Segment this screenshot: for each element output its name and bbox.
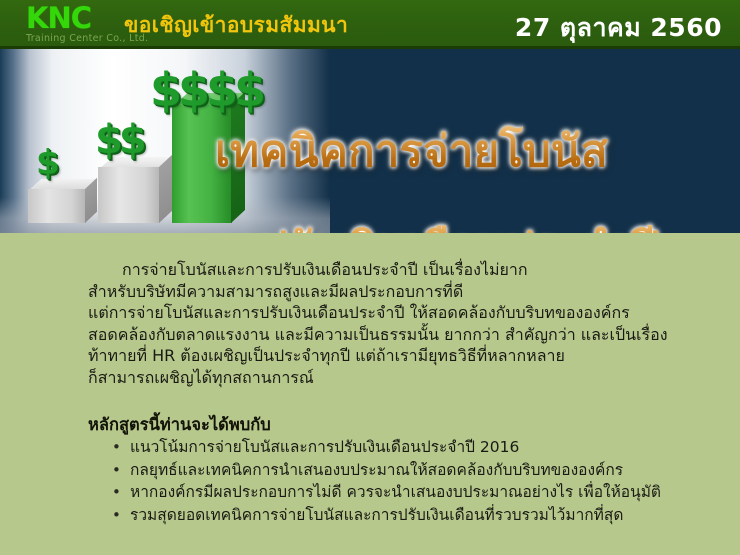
intro-paragraph-line: สอดคล้องกับตลาดแรงงาน และมีความเป็นธรรมน… xyxy=(88,324,708,346)
list-item: •รวมสุดยอดเทคนิคการจ่ายโบนัสและการปรับเง… xyxy=(108,504,738,527)
event-date: 27 ตุลาคม 2560 xyxy=(515,8,722,48)
list-item: •หากองค์กรมีผลประกอบการไม่ดี ควรจะนำเสนอ… xyxy=(108,481,738,504)
intro-paragraph-line: สำหรับบริษัทมีความสามารถสูงและมีผลประกอบ… xyxy=(88,281,708,303)
list-item-label: หากองค์กรมีผลประกอบการไม่ดี ควรจะนำเสนอง… xyxy=(130,483,661,501)
bullet-marker-icon: • xyxy=(112,481,121,504)
intro-paragraph-line: ก็สามารถเผชิญได้ทุกสถานการณ์ xyxy=(88,367,708,389)
banner: $ $$ $$$$ เทคนิคการจ่ายโบนัส และการปรับเ… xyxy=(0,49,740,233)
course-topics-heading: หลักสูตรนี้ท่านจะได้พบกับ xyxy=(88,412,271,438)
banner-title-group: เทคนิคการจ่ายโบนัส และการปรับเงินเดือนปร… xyxy=(0,49,740,233)
list-item: •แนวโน้มการจ่ายโบนัสและการปรับเงินเดือนป… xyxy=(108,436,738,459)
header-band: KNC Training Center Co., Ltd. ขอเชิญเข้า… xyxy=(0,0,740,48)
list-item-label: กลยุทธ์และเทคนิคการนำเสนองบประมาณให้สอดค… xyxy=(130,461,623,479)
intro-paragraph: การจ่ายโบนัสและการปรับเงินเดือนประจำปี เ… xyxy=(88,259,708,388)
list-item: •กลยุทธ์และเทคนิคการนำเสนองบประมาณให้สอด… xyxy=(108,459,738,482)
intro-paragraph-line: การจ่ายโบนัสและการปรับเงินเดือนประจำปี เ… xyxy=(88,259,708,281)
content-body: การจ่ายโบนัสและการปรับเงินเดือนประจำปี เ… xyxy=(0,233,740,555)
list-item-label: รวมสุดยอดเทคนิคการจ่ายโบนัสและการปรับเงิ… xyxy=(130,506,623,524)
invite-headline: ขอเชิญเข้าอบรมสัมมนา xyxy=(124,9,348,42)
seminar-flyer: KNC Training Center Co., Ltd. ขอเชิญเข้า… xyxy=(0,0,740,555)
seminar-title-line-2: และการปรับเงินเดือนประจำปี xyxy=(106,213,660,233)
bullet-marker-icon: • xyxy=(112,504,121,527)
list-item-label: แนวโน้มการจ่ายโบนัสและการปรับเงินเดือนปร… xyxy=(130,438,519,456)
bullet-marker-icon: • xyxy=(112,436,121,459)
bullet-marker-icon: • xyxy=(112,459,121,482)
course-topics-list: •แนวโน้มการจ่ายโบนัสและการปรับเงินเดือนป… xyxy=(108,436,738,526)
seminar-title-line-1: เทคนิคการจ่ายโบนัส xyxy=(215,116,608,186)
intro-paragraph-line: ท้าทายที่ HR ต้องเผชิญเป็นประจำทุกปี แต่… xyxy=(88,345,708,367)
intro-paragraph-line: แต่การจ่ายโบนัสและการปรับเงินเดือนประจำป… xyxy=(88,302,708,324)
